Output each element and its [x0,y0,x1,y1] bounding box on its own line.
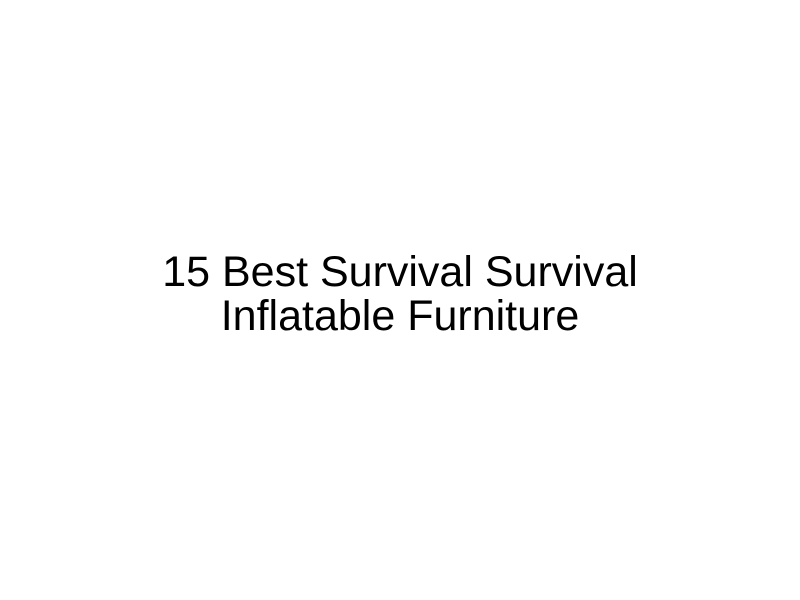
headline-block: 15 Best Survival Survival Inflatable Fur… [80,250,720,338]
page-title: 15 Best Survival Survival Inflatable Fur… [80,250,720,338]
title-card: 15 Best Survival Survival Inflatable Fur… [0,0,800,600]
